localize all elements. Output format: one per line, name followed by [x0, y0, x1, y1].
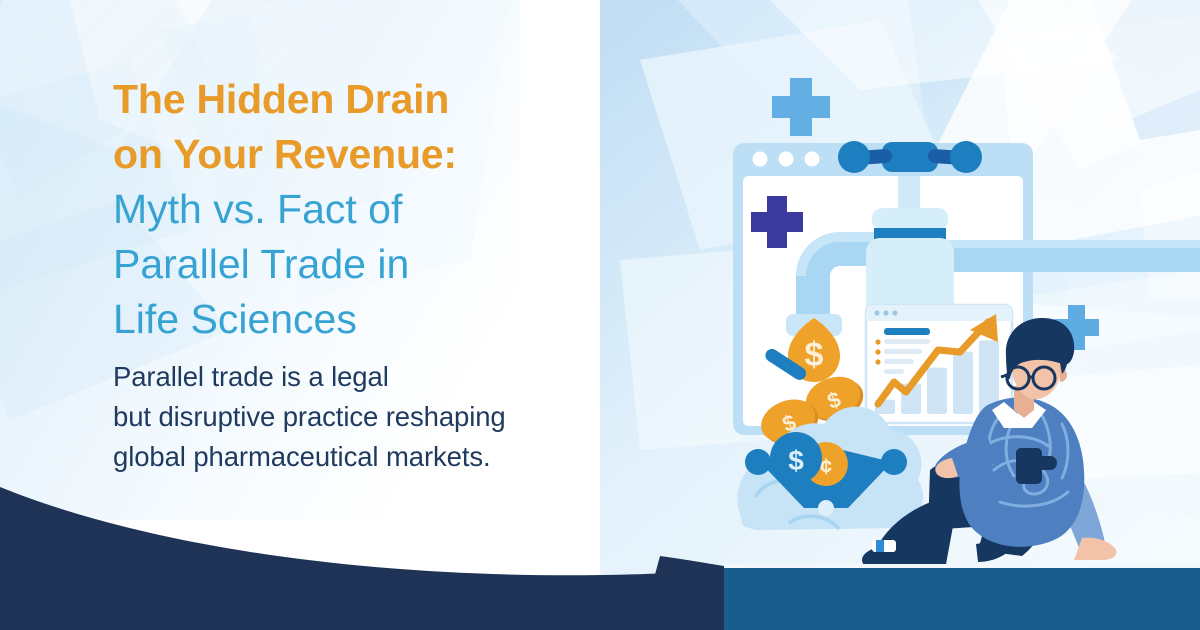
- floor-edge-highlight: [724, 564, 1200, 568]
- subtitle-line-2: but disruptive practice reshaping: [113, 397, 673, 437]
- wave-navy-tail: [640, 556, 724, 630]
- headline-blue-line-3: Life Sciences: [113, 292, 673, 347]
- headline-blue-line-1: Myth vs. Fact of: [113, 182, 673, 237]
- page-subtitle: Parallel trade is a legal but disruptive…: [113, 357, 673, 477]
- subtitle-line-1: Parallel trade is a legal: [113, 357, 673, 397]
- wave-navy: [0, 487, 724, 630]
- headline-orange-line-2: on Your Revenue:: [113, 127, 673, 182]
- headline-blue-line-2: Parallel Trade in: [113, 237, 673, 292]
- page-title: The Hidden Drain on Your Revenue: Myth v…: [113, 72, 673, 347]
- headline-orange-line-1: The Hidden Drain: [113, 72, 673, 127]
- banner-canvas: $ $ $: [0, 0, 1200, 630]
- floor-plane: [724, 567, 1200, 630]
- subtitle-line-3: global pharmaceutical markets.: [113, 437, 673, 477]
